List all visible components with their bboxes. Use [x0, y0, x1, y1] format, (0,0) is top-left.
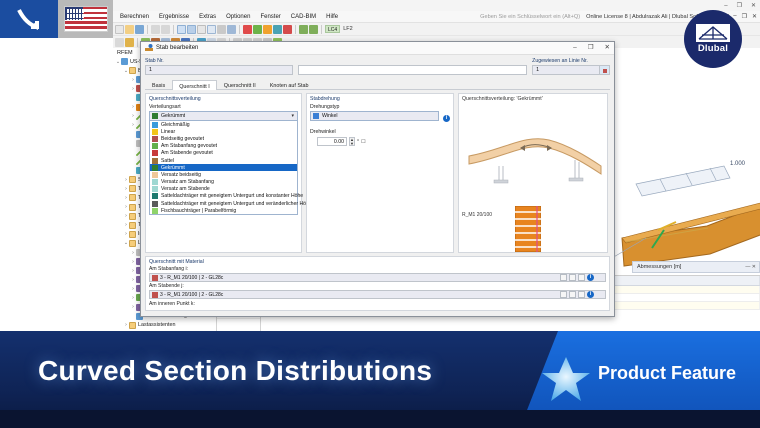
- option-color-swatch: [152, 165, 158, 171]
- section-distribution-group-label: Querschnittsverteilung: [146, 94, 301, 102]
- section-start-color-swatch: [152, 275, 158, 281]
- section-end-value: 3 - R_M1 20/100 | 2 - GL28c: [160, 292, 223, 298]
- member-name-field-group: [298, 58, 528, 75]
- option-color-swatch: [152, 143, 158, 149]
- rotation-type-label: Drehungstyp: [307, 102, 453, 111]
- section-start-field[interactable]: 3 - R_M1 20/100 | 2 - GL28c i: [149, 273, 606, 282]
- option-label: Fischbauchträger | Parabelförmig: [161, 208, 236, 214]
- rotation-type-combo[interactable]: Winkel: [310, 111, 439, 121]
- dialog-tabs[interactable]: BasisQuerschnitt IQuerschnitt IIKnoten a…: [145, 79, 610, 90]
- section-end-color-swatch: [152, 292, 158, 298]
- preview-pane: Querschnittsverteilung: 'Gekrümmt': [458, 93, 608, 253]
- undo-icon[interactable]: [151, 25, 160, 34]
- dropdown-option[interactable]: Linear: [150, 128, 297, 135]
- dropdown-option[interactable]: Sattel: [150, 157, 297, 164]
- intro-tile: [0, 0, 58, 38]
- dropdown-option[interactable]: Satteldachträger mit geneigtem Untergurt…: [150, 193, 297, 200]
- section-new-icon[interactable]: [569, 274, 576, 281]
- toolbar-separator: [239, 25, 240, 34]
- option-label: Gekrümmt: [161, 165, 185, 171]
- view-solid-icon[interactable]: [187, 25, 196, 34]
- banner-title: Curved Section Distributions: [38, 355, 432, 387]
- angle-unit-icon: °: [357, 139, 359, 145]
- grid-icon[interactable]: [197, 25, 206, 34]
- banner-bottom-strip: [0, 410, 760, 428]
- project-icon: [121, 58, 128, 65]
- option-label: Sattel: [161, 158, 174, 164]
- chevron-down-icon[interactable]: ▾: [291, 113, 294, 119]
- dialog-top-fields: Stab Nr. 1 Zugewiesen an Linie Nr. 1: [145, 58, 610, 75]
- feature-banner: Curved Section Distributions Product Fea…: [0, 331, 760, 428]
- toolbar-separator: [295, 25, 296, 34]
- curved-beam-preview-graphic: [463, 110, 605, 210]
- inner-window-buttons: – ❐ ✕: [733, 13, 760, 20]
- truss-frame-icon: [696, 24, 730, 42]
- dialog-tab[interactable]: Querschnitt II: [217, 79, 263, 89]
- option-label: Beidseitig gevoutet: [161, 136, 204, 142]
- select-icon[interactable]: [115, 38, 124, 47]
- rotation-angle-label: Drehwinkel: [307, 127, 453, 136]
- folder-icon: [129, 67, 136, 74]
- section-table-icon[interactable]: [560, 291, 567, 298]
- section-edit-icon[interactable]: [578, 291, 585, 298]
- option-label: Versatz am Stabende: [161, 186, 210, 192]
- dialog-title: Stab bearbeiten: [156, 45, 198, 51]
- app-root: – ❐ ✕ Berechnen Ergebnisse Extras Option…: [0, 0, 760, 428]
- angle-lock-icon[interactable]: ☐: [361, 139, 366, 145]
- print-icon[interactable]: [217, 25, 226, 34]
- analysis-icon[interactable]: [273, 25, 282, 34]
- menu-bar: Berechnen Ergebnisse Extras Optionen Fen…: [113, 11, 760, 22]
- member-name-input[interactable]: [298, 65, 528, 75]
- pick-line-button[interactable]: [599, 66, 609, 74]
- dropdown-option[interactable]: Gleichmäßig: [150, 121, 297, 128]
- section-end-tools: i: [560, 291, 605, 298]
- member-name-label: [298, 58, 528, 64]
- preview-section-tag: R_M1 20/100: [462, 212, 492, 218]
- toolbar-primary: LC4 LF2: [113, 22, 760, 35]
- dialog-close-button[interactable]: ✕: [601, 45, 614, 52]
- option-color-swatch: [152, 186, 158, 192]
- section-start-row: Am Stabanfang i: 3 - R_M1 20/100 | 2 - G…: [149, 266, 606, 282]
- dropdown-option[interactable]: Versatz beidseitig: [150, 171, 297, 178]
- section-start-value: 3 - R_M1 20/100 | 2 - GL28c: [160, 275, 223, 281]
- banner-tagline: Product Feature: [598, 363, 736, 384]
- dlubal-logo-text: Dlubal: [698, 43, 728, 54]
- lc-prev-icon[interactable]: [299, 25, 308, 34]
- section-end-field[interactable]: 3 - R_M1 20/100 | 2 - GL28c i: [149, 290, 606, 299]
- section-end-row: Am Stabende j: 3 - R_M1 20/100 | 2 - GL2…: [149, 283, 606, 299]
- dimensions-panel-close-icon[interactable]: — ✕: [745, 264, 756, 270]
- folder-icon: [129, 240, 136, 247]
- preview-title: Querschnittsverteilung: 'Gekrümmt': [459, 94, 607, 102]
- toolbar-separator: [147, 25, 148, 34]
- member-no-input[interactable]: 1: [145, 65, 293, 75]
- section-start-label: Am Stabanfang i:: [149, 266, 606, 272]
- section-distribution-pane: Querschnittsverteilung Verteilungsart Ge…: [145, 93, 302, 253]
- distribution-type-dropdown-list[interactable]: GleichmäßigLinearBeidseitig gevoutetAm S…: [149, 121, 298, 215]
- dropdown-option[interactable]: Am Stabanfang gevoutet: [150, 143, 297, 150]
- menu-item-hilfe[interactable]: Hilfe: [321, 14, 343, 20]
- section-material-group-label: Querschnitt mit Material: [149, 259, 606, 265]
- edit-member-dialog[interactable]: Stab bearbeiten – ❐ ✕ Stab Nr. 1 Zugewie…: [140, 41, 615, 317]
- tree-node-label: Lastassistenten: [138, 322, 175, 328]
- info-icon[interactable]: i: [587, 274, 594, 281]
- section-settings-icon[interactable]: [596, 291, 603, 298]
- model-3d-graphic: 1.000: [612, 108, 760, 278]
- dropdown-option[interactable]: Beidseitig gevoutet: [150, 135, 297, 142]
- dimensions-panel-title: Abmessungen [m]: [633, 262, 759, 270]
- section-table-icon[interactable]: [560, 274, 567, 281]
- dropdown-option[interactable]: Versatz am Stabende: [150, 186, 297, 193]
- option-label: Satteldachträger mit geneigtem Untergurt…: [161, 193, 303, 199]
- rotation-color-swatch: [313, 113, 319, 119]
- deform-icon[interactable]: [263, 25, 272, 34]
- navigator-title: RFEM: [117, 50, 133, 56]
- dialog-tab[interactable]: Knoten auf Stab: [263, 79, 316, 89]
- member-rotation-pane: Stabdrehung Drehungstyp Winkel i Drehwin…: [306, 93, 454, 253]
- tree-node[interactable]: ›Lastassistenten: [114, 321, 216, 330]
- dialog-body: Stab Nr. 1 Zugewiesen an Linie Nr. 1 Bas…: [141, 55, 614, 316]
- render-icon[interactable]: [207, 25, 216, 34]
- assigned-line-label: Zugewiesen an Linie Nr.: [532, 58, 610, 64]
- view-wire-icon[interactable]: [177, 25, 186, 34]
- option-color-swatch: [152, 129, 158, 135]
- folder-icon: [129, 231, 136, 238]
- dialog-panes: Querschnittsverteilung Verteilungsart Ge…: [145, 93, 610, 253]
- toolbar-separator: [137, 38, 138, 47]
- distribution-type-value: Gekrümmt: [161, 113, 185, 119]
- section-end-label: Am Stabende j:: [149, 283, 606, 289]
- option-color-swatch: [152, 193, 158, 199]
- menu-item-extras[interactable]: Extras: [194, 14, 221, 20]
- save-icon[interactable]: [135, 25, 144, 34]
- option-color-swatch: [152, 150, 158, 156]
- member-edit-icon: [145, 44, 153, 52]
- folder-icon: [129, 204, 136, 211]
- assigned-line-input[interactable]: 1: [532, 65, 610, 75]
- folder-icon: [129, 222, 136, 229]
- dialog-maximize-button[interactable]: ❐: [584, 45, 598, 52]
- option-label: Satteldachträger mit geneigtem Untergurt…: [161, 201, 312, 207]
- section-new-icon[interactable]: [569, 291, 576, 298]
- inner-restore-button[interactable]: ❐: [742, 13, 747, 20]
- info-icon[interactable]: i: [443, 115, 450, 122]
- menu-item-cad-bim[interactable]: CAD-BIM: [286, 14, 321, 20]
- member-rotation-group-label: Stabdrehung: [307, 94, 453, 102]
- distribution-type-label: Verteilungsart: [146, 102, 301, 111]
- new-icon[interactable]: [115, 25, 124, 34]
- window-close-button[interactable]: ✕: [751, 3, 756, 9]
- results-icon[interactable]: [253, 25, 262, 34]
- inner-close-button[interactable]: ✕: [752, 13, 757, 20]
- distribution-color-swatch: [152, 113, 158, 119]
- option-label: Versatz am Stabanfang: [161, 179, 214, 185]
- menu-item-optionen[interactable]: Optionen: [221, 14, 255, 20]
- dlubal-logo: Dlubal: [684, 10, 742, 68]
- window-maximize-button[interactable]: ❐: [737, 3, 742, 9]
- dropdown-option[interactable]: Gekrümmt: [150, 164, 297, 171]
- option-label: Linear: [161, 129, 175, 135]
- rotation-angle-spinner[interactable]: 0.00 ▲▼ ° ☐: [317, 137, 453, 146]
- option-color-swatch: [152, 122, 158, 128]
- section-with-material-block: Querschnitt mit Material Am Stabanfang i…: [145, 256, 610, 311]
- rotation-type-value: Winkel: [322, 113, 338, 119]
- folder-icon: [129, 185, 136, 192]
- menu-item-berechnen[interactable]: Berechnen: [115, 14, 154, 20]
- down-right-arrow-icon: [14, 6, 44, 34]
- dialog-titlebar: Stab bearbeiten – ❐ ✕: [141, 42, 614, 55]
- open-icon[interactable]: [125, 25, 134, 34]
- option-color-swatch: [152, 179, 158, 185]
- window-titlebar: – ❐ ✕: [113, 0, 760, 11]
- menu-item-ergebnisse[interactable]: Ergebnisse: [154, 14, 194, 20]
- section-hatch-graphic: [515, 206, 541, 252]
- option-color-swatch: [152, 201, 158, 207]
- dialog-tab[interactable]: Basis: [145, 79, 172, 89]
- redo-icon[interactable]: [161, 25, 170, 34]
- folder-icon: [129, 213, 136, 220]
- window-minimize-button[interactable]: –: [724, 3, 727, 9]
- dimension-value-label: 1.000: [730, 161, 746, 167]
- toolbar-separator: [173, 25, 174, 34]
- section-start-tools: i: [560, 274, 605, 281]
- option-label: Versatz beidseitig: [161, 172, 201, 178]
- dropdown-option[interactable]: Versatz am Stabanfang: [150, 179, 297, 186]
- dialog-tab[interactable]: Querschnitt I: [172, 80, 217, 90]
- folder-icon: [129, 194, 136, 201]
- dropdown-option[interactable]: Am Stabende gevoutet: [150, 150, 297, 157]
- folder-icon: [129, 176, 136, 183]
- dialog-minimize-button[interactable]: –: [569, 45, 581, 52]
- menu-item-fenster[interactable]: Fenster: [255, 14, 285, 20]
- calculate-icon[interactable]: [243, 25, 252, 34]
- option-label: Gleichmäßig: [161, 122, 190, 128]
- load-case-chip[interactable]: LC4: [325, 25, 340, 33]
- member-no-field-group: Stab Nr. 1: [145, 58, 293, 75]
- node-icon[interactable]: [125, 38, 134, 47]
- section-edit-icon[interactable]: [578, 274, 585, 281]
- distribution-type-combo[interactable]: Gekrümmt ▾: [149, 111, 298, 121]
- section-settings-icon[interactable]: [596, 274, 603, 281]
- assigned-line-value: 1: [536, 67, 539, 73]
- option-color-swatch: [152, 208, 158, 214]
- option-label: Am Stabanfang gevoutet: [161, 143, 217, 149]
- us-flag-icon: [64, 6, 108, 32]
- keyword-search-input[interactable]: Geben Sie ein Schlüsselwort ein (Alt+Q): [480, 14, 586, 20]
- option-label: Am Stabende gevoutet: [161, 150, 213, 156]
- dimensions-panel[interactable]: Abmessungen [m] — ✕: [632, 261, 760, 273]
- folder-icon: [129, 322, 136, 329]
- option-color-swatch: [152, 136, 158, 142]
- dropdown-option[interactable]: Satteldachträger mit geneigtem Untergurt…: [150, 200, 297, 207]
- lc-next-icon[interactable]: [309, 25, 318, 34]
- option-color-swatch: [152, 172, 158, 178]
- dropdown-option[interactable]: Fischbauchträger | Parabelförmig: [150, 207, 297, 214]
- load-case-label: LF2: [343, 26, 352, 32]
- section-inner-label: Am inneren Punkt k:: [149, 301, 606, 307]
- info-icon[interactable]: i: [587, 291, 594, 298]
- member-no-label: Stab Nr.: [145, 58, 293, 64]
- report-icon[interactable]: [227, 25, 236, 34]
- stepper-up-down-icon[interactable]: ▲▼: [349, 137, 355, 146]
- check-icon[interactable]: [283, 25, 292, 34]
- toolbar-separator: [321, 25, 322, 34]
- option-color-swatch: [152, 158, 158, 164]
- rotation-angle-input[interactable]: 0.00: [317, 137, 347, 146]
- assigned-line-group: Zugewiesen an Linie Nr. 1: [532, 58, 610, 75]
- star-icon: [540, 355, 592, 405]
